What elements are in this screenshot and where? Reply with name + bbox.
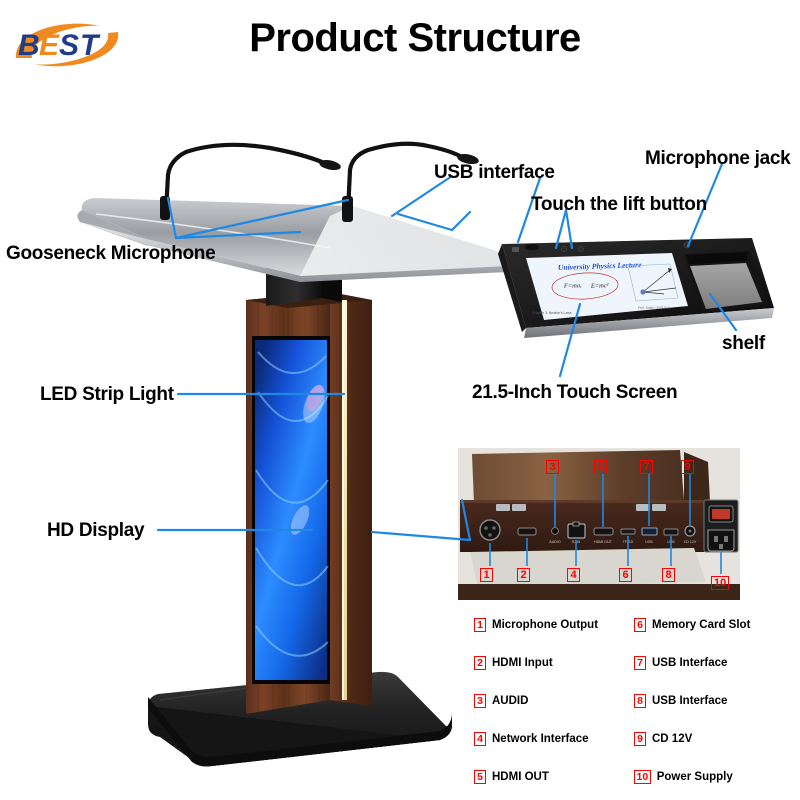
callout-microphone-jack: Microphone jack [645,148,790,170]
panel-callout-6: 6 [619,568,632,582]
legend-column-right: 6 Memory Card Slot 7 USB Interface 8 USB… [634,606,789,796]
callout-led-strip-light: LED Strip Light [40,384,174,406]
legend-label: Memory Card Slot [652,619,750,631]
panel-callout-3: 3 [546,460,559,474]
legend-label: AUDID [492,695,528,707]
legend-item: 6 Memory Card Slot [634,606,789,644]
legend-number: 9 [634,732,646,746]
legend-number: 5 [474,770,486,784]
legend-item: 2 HDMI Input [474,644,629,682]
legend-item: 10 Power Supply [634,758,789,796]
callout-touch-lift-button: Touch the lift button [531,194,707,216]
podium-desktop [77,198,515,282]
svg-text:HDMI OUT: HDMI OUT [594,540,613,544]
callout-hd-display: HD Display [47,520,144,542]
legend-label: Power Supply [657,771,733,783]
legend-item: 4 Network Interface [474,720,629,758]
hd-display-panel [252,336,330,684]
legend-label: Microphone Output [492,619,598,631]
microphone-jack-port [684,242,690,248]
screen-footer-right: Prof. Smith | 2024 Fall [638,306,670,310]
legend-number: 3 [474,694,486,708]
legend-item: 1 Microphone Output [474,606,629,644]
screen-footer-left: Chapter 3: Newton's Laws [532,311,572,315]
panel-callout-10: 10 [711,576,729,590]
panel-callout-2: 2 [517,568,530,582]
callout-gooseneck-microphone: Gooseneck Microphone [6,243,215,265]
legend-column-left: 1 Microphone Output 2 HDMI Input 3 AUDID… [474,606,629,796]
panel-callout-4: 4 [567,568,580,582]
callout-shelf: shelf [722,333,765,355]
legend-label: USB Interface [652,695,727,707]
legend-label: CD 12V [652,733,692,745]
legend-label: Network Interface [492,733,589,745]
product-structure-page: B E S T Product Structure [0,0,800,800]
legend-item: 7 USB Interface [634,644,789,682]
screen-formula-1: F=ma, [563,282,582,290]
legend-number: 8 [634,694,646,708]
screen-formula-2: E=mc² [590,282,609,290]
legend-item: 3 AUDID [474,682,629,720]
legend-number: 10 [634,770,651,784]
svg-text:USB: USB [645,540,653,544]
touchscreen-detail-illustration: University Physics Lecture F=ma, E=mc² C… [488,228,788,338]
port-legend: 1 Microphone Output 2 HDMI Input 3 AUDID… [474,606,794,796]
panel-callout-1: 1 [480,568,493,582]
lift-button-down [578,246,583,251]
legend-number: 4 [474,732,486,746]
lift-button-up [561,246,566,251]
port-panel-photo: AUDIO RJ45 HDMI OUT TF/SD USB USB CD 12V [458,448,740,600]
panel-callout-9: 9 [681,460,694,474]
panel-callout-5: 5 [594,460,607,474]
lift-mechanism [525,244,539,251]
legend-number: 2 [474,656,486,670]
legend-number: 6 [634,618,646,632]
legend-label: USB Interface [652,657,727,669]
legend-item: 5 HDMI OUT [474,758,629,796]
callout-usb-interface: USB interface [434,162,555,184]
legend-item: 8 USB Interface [634,682,789,720]
panel-callout-8: 8 [662,568,675,582]
legend-number: 1 [474,618,486,632]
panel-callout-7: 7 [640,460,653,474]
legend-label: HDMI OUT [492,771,549,783]
svg-text:AUDIO: AUDIO [549,540,561,544]
usb-port-icon [512,247,519,252]
svg-text:CD 12V: CD 12V [684,540,697,544]
legend-item: 9 CD 12V [634,720,789,758]
legend-label: HDMI Input [492,657,553,669]
callout-touch-screen: 21.5-Inch Touch Screen [472,382,677,404]
legend-number: 7 [634,656,646,670]
